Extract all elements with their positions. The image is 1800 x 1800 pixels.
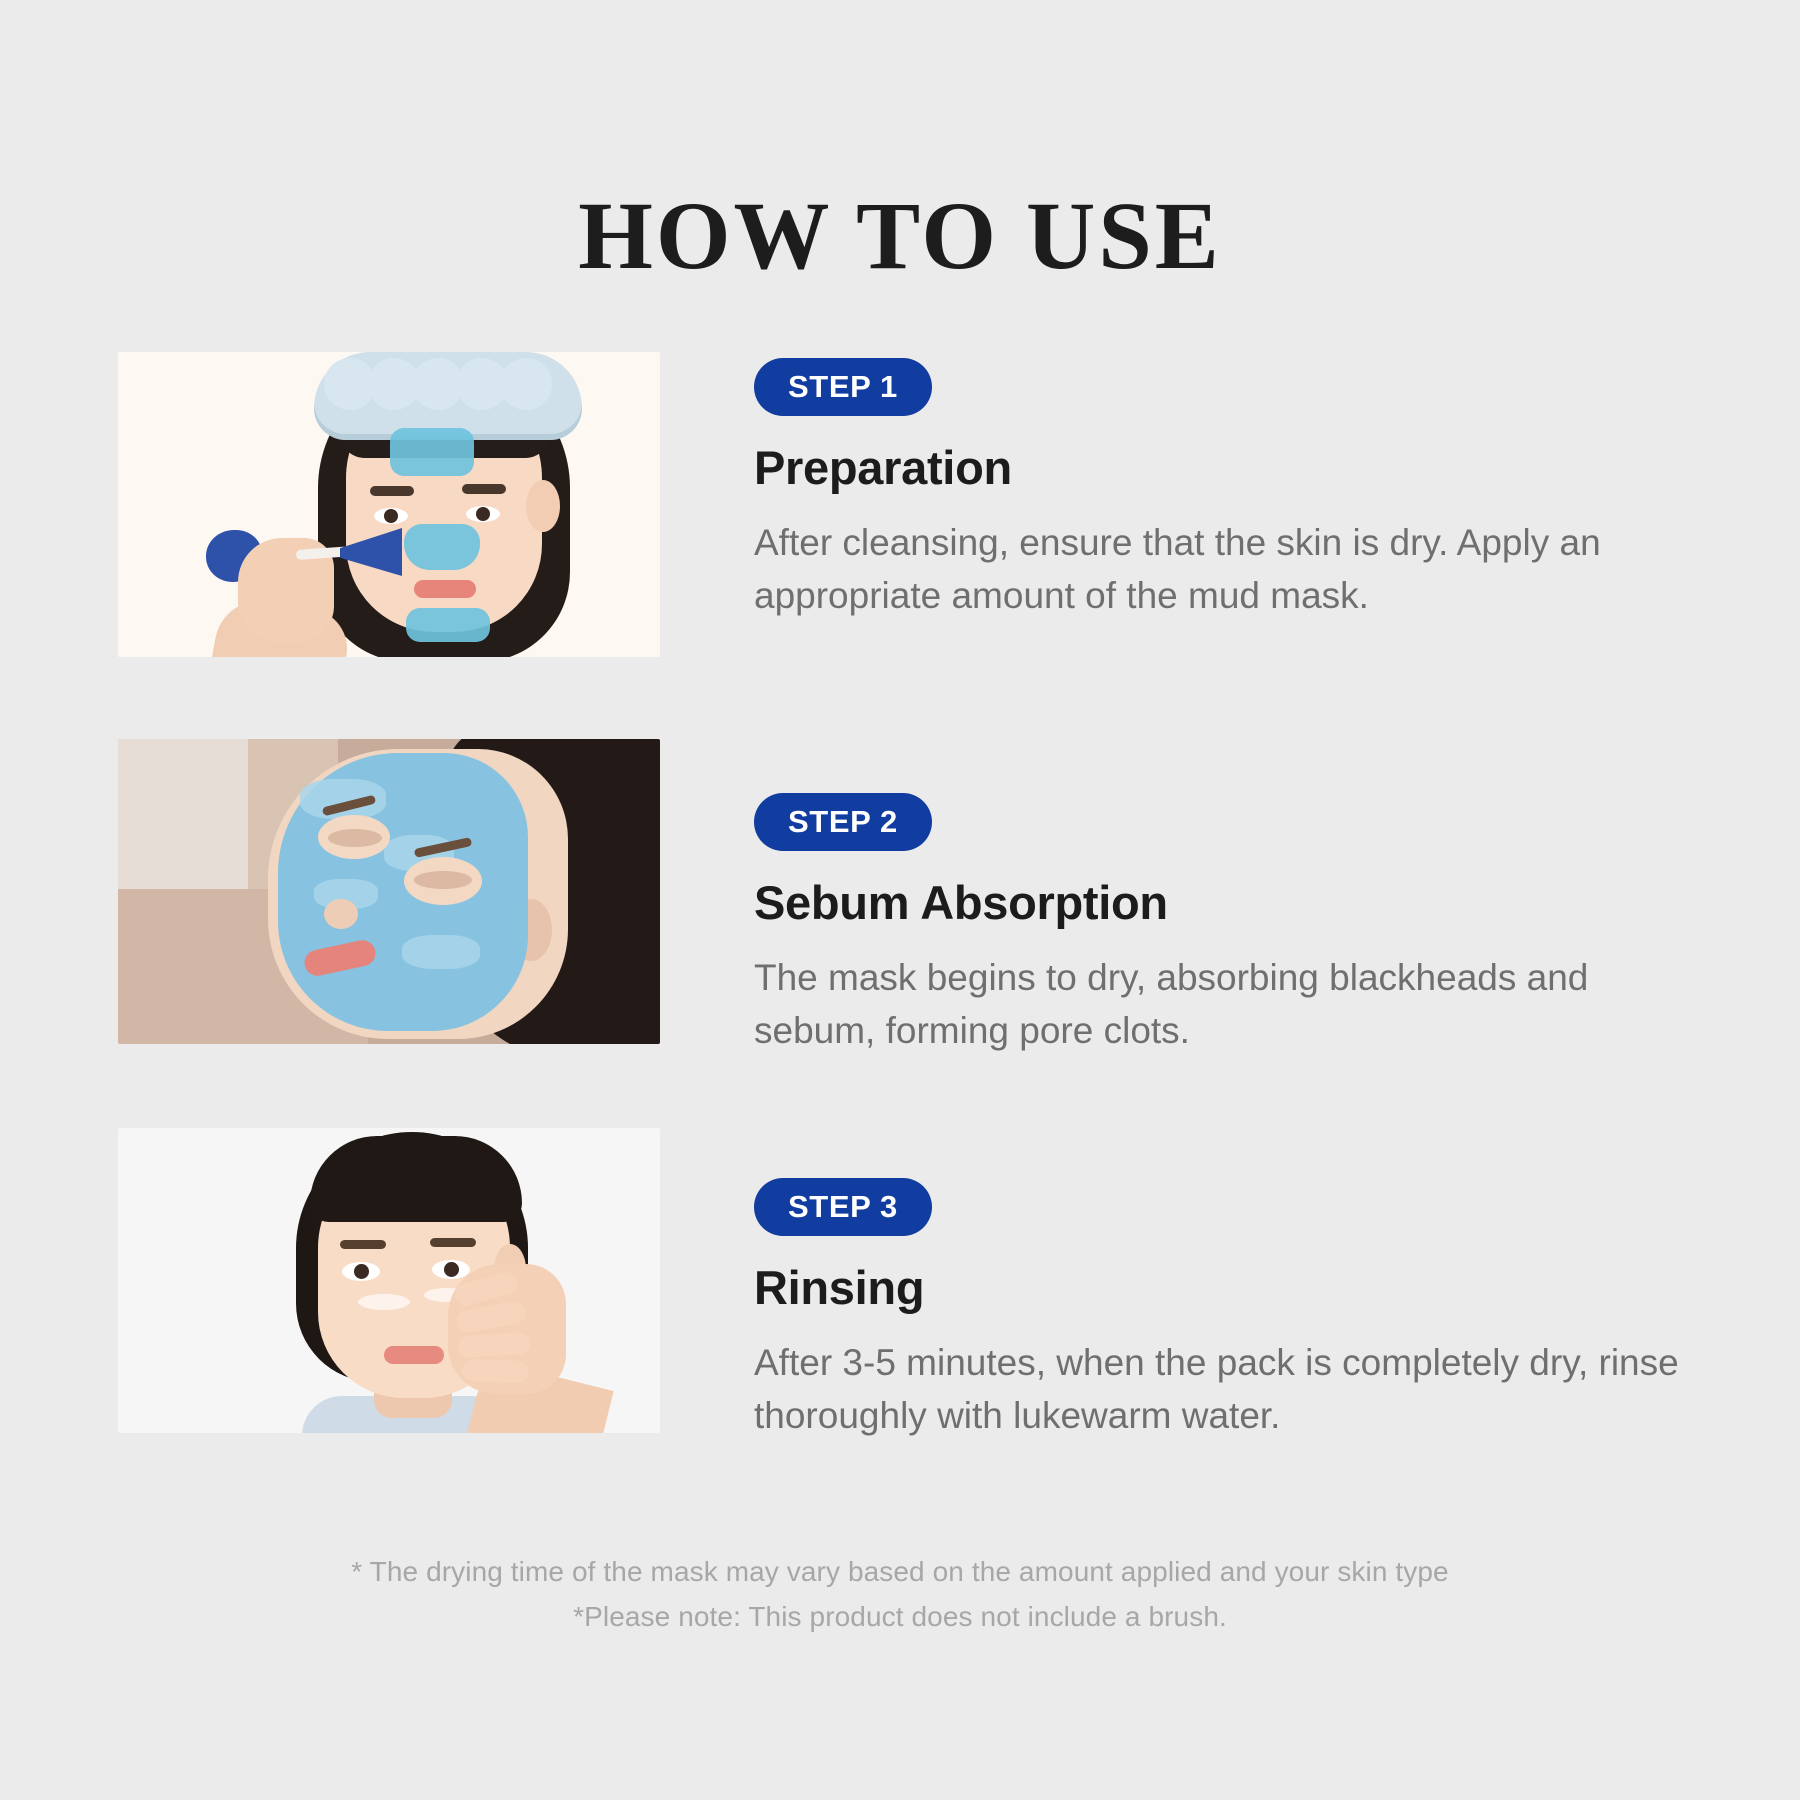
page-title: HOW TO USE [0,186,1800,287]
eye-shape [342,1262,380,1281]
step-2-illustration [118,739,660,1044]
nose-shape [324,899,358,929]
step-item: STEP 2 Sebum Absorption The mask begins … [118,739,1688,1058]
skin-sheen [358,1294,410,1310]
eye-shape [374,508,408,524]
mask-dab-chin [406,608,490,642]
eyebrow-shape [340,1240,386,1249]
step-1-badge: STEP 1 [754,358,932,416]
eyebrow-shape [370,486,414,496]
lips-shape [384,1346,444,1364]
step-2-title: Sebum Absorption [754,877,1688,929]
step-2-copy: STEP 2 Sebum Absorption The mask begins … [660,739,1688,1058]
mask-dab-forehead [390,428,474,476]
step-1-body: After cleansing, ensure that the skin is… [754,516,1688,623]
lips-shape [414,580,476,598]
mask-dab-nose [404,524,480,570]
step-3-title: Rinsing [754,1262,1688,1314]
step-3-image [118,1128,660,1433]
step-3-badge: STEP 3 [754,1178,932,1236]
closed-eyelid [414,871,472,889]
finger-shape [462,1359,529,1383]
footnote-no-brush: *Please note: This product does not incl… [0,1595,1800,1640]
step-3-copy: STEP 3 Rinsing After 3-5 minutes, when t… [660,1128,1688,1443]
eyebrow-shape [430,1238,476,1247]
step-3-body: After 3-5 minutes, when the pack is comp… [754,1336,1688,1443]
eyebrow-shape [462,484,506,494]
eye-shape [466,506,500,522]
step-item: STEP 3 Rinsing After 3-5 minutes, when t… [118,1128,1688,1443]
step-2-badge: STEP 2 [754,793,932,851]
steps-list: STEP 1 Preparation After cleansing, ensu… [118,352,1688,1443]
step-item: STEP 1 Preparation After cleansing, ensu… [118,352,1688,657]
step-2-body: The mask begins to dry, absorbing blackh… [754,951,1688,1058]
ear-shape [526,480,560,532]
how-to-use-page: HOW TO USE [0,0,1800,1800]
eye-shape [432,1260,470,1279]
headband-bump [500,358,552,410]
footnotes: * The drying time of the mask may vary b… [0,1550,1800,1640]
footnote-drying-time: * The drying time of the mask may vary b… [0,1550,1800,1595]
hair-front-shape [310,1136,522,1222]
step-1-copy: STEP 1 Preparation After cleansing, ensu… [660,352,1688,623]
mask-texture [402,935,480,969]
step-1-title: Preparation [754,442,1688,494]
step-1-image [118,352,660,657]
step-1-illustration [118,352,660,657]
step-3-illustration [118,1128,660,1433]
closed-eyelid [328,829,382,847]
step-2-image [118,739,660,1044]
